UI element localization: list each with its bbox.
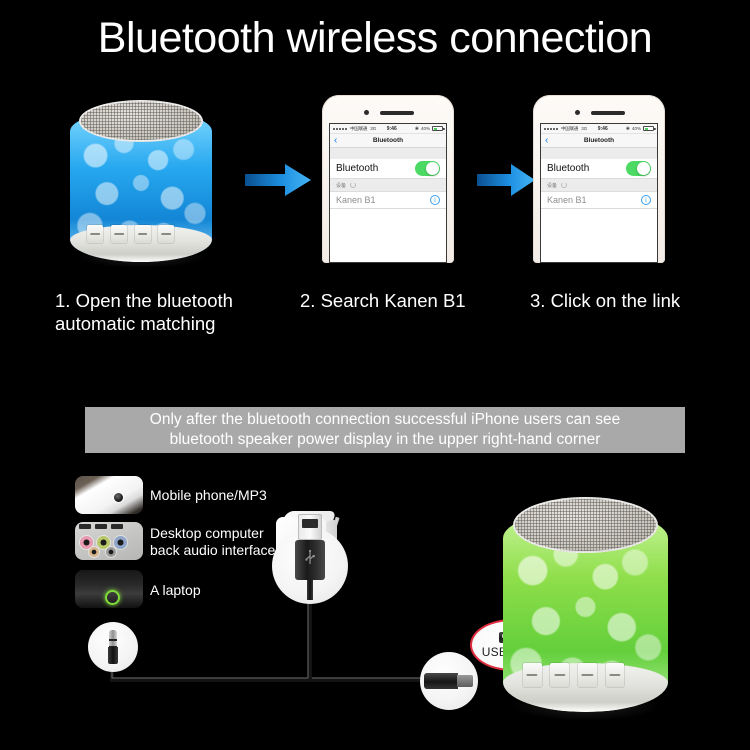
speaker-button-mode (87, 225, 103, 242)
bluetooth-toggle-row[interactable]: Bluetooth (541, 159, 657, 179)
step-1-line-1: 1. Open the bluetooth (55, 289, 305, 312)
battery-percent-label: 40% (632, 126, 641, 131)
source-3-line-1: A laptop (150, 582, 201, 599)
bluetooth-toggle-switch[interactable] (415, 161, 440, 176)
speaker-grille (79, 100, 204, 142)
clock-label: 9:46 (387, 126, 397, 132)
info-icon[interactable]: i (641, 195, 651, 205)
iphone-mockup-step2: 中国联通 3G 9:46 ❀ 40% ‹ Bluetooth Bluetooth (322, 95, 454, 263)
speaker-button-row (523, 639, 648, 704)
bluetooth-toggle-row[interactable]: Bluetooth (330, 159, 446, 179)
right-arrow-icon-1 (245, 163, 311, 197)
bluetooth-icon: ❀ (626, 126, 630, 132)
devices-section-header: 设备 (541, 179, 657, 192)
back-chevron-icon[interactable]: ‹ (545, 136, 548, 146)
speaker-grille (513, 497, 658, 553)
ios-status-bar: 中国联通 3G 9:46 ❀ 40% (541, 124, 657, 134)
speaker-button-prev (550, 663, 569, 686)
step-caption-3: 3. Click on the link (530, 289, 740, 312)
right-arrow-icon-2 (477, 163, 535, 197)
source-label-1: Mobile phone/MP3 (150, 487, 267, 504)
banner-line-1: Only after the bluetooth connection succ… (150, 410, 620, 430)
carrier-label: 中国联通 (561, 126, 578, 132)
source-2-line-2: back audio interface (150, 542, 275, 559)
device-row-kanen-b1[interactable]: Kanen B1 i (330, 192, 446, 209)
usb-a-connector (295, 514, 325, 600)
laptop-thumbnail (75, 570, 143, 608)
phone-screen: 中国联通 3G 9:46 ❀ 40% ‹ Bluetooth Bluetooth (329, 123, 447, 263)
page-title: Bluetooth wireless connection (0, 14, 750, 63)
source-2-line-1: Desktop computer (150, 525, 275, 542)
source-label-2: Desktop computer back audio interface (150, 525, 275, 559)
bluetooth-speaker-blue (70, 100, 212, 262)
step-caption-2: 2. Search Kanen B1 (300, 289, 520, 312)
bluetooth-icon: ❀ (415, 126, 419, 132)
speaker-button-play (578, 663, 597, 686)
audio-interface-thumbnail (75, 522, 143, 560)
micro-usb-connector (424, 671, 476, 691)
step-caption-1: 1. Open the bluetooth automatic matching (55, 289, 305, 335)
info-banner: Only after the bluetooth connection succ… (85, 407, 685, 453)
ios-status-bar: 中国联通 3G 9:46 ❀ 40% (330, 124, 446, 134)
clock-label: 9:46 (598, 126, 608, 132)
signal-strength-icon (333, 128, 347, 130)
phone-screen: 中国联通 3G 9:46 ❀ 40% ‹ Bluetooth Bluetooth (540, 123, 658, 263)
speaker-button-row (87, 207, 195, 256)
bluetooth-row-label: Bluetooth (336, 163, 378, 174)
section-gap (541, 148, 657, 159)
bluetooth-row-label: Bluetooth (547, 163, 589, 174)
speaker-button-mode (523, 663, 542, 686)
loading-spinner-icon (350, 182, 356, 188)
iphone-mockup-step3: 中国联通 3G 9:46 ❀ 40% ‹ Bluetooth Bluetooth (533, 95, 665, 263)
device-name-label: Kanen B1 (336, 195, 376, 205)
devices-section-header: 设备 (330, 179, 446, 192)
ios-nav-bar: ‹ Bluetooth (330, 134, 446, 148)
speaker-button-prev (111, 225, 127, 242)
step-1-line-2: automatic matching (55, 312, 305, 335)
banner-line-2: bluetooth speaker power display in the u… (170, 430, 601, 450)
speaker-button-next (606, 663, 625, 686)
device-name-label: Kanen B1 (547, 195, 587, 205)
infographic-canvas: Bluetooth wireless connection (0, 0, 750, 750)
source-1-line-1: Mobile phone/MP3 (150, 487, 267, 504)
carrier-label: 中国联通 (350, 126, 367, 132)
nav-title: Bluetooth (584, 137, 614, 144)
battery-percent-label: 40% (421, 126, 430, 131)
signal-strength-icon (544, 128, 558, 130)
back-chevron-icon[interactable]: ‹ (334, 136, 337, 146)
audio-jacks (75, 522, 143, 560)
source-label-3: A laptop (150, 582, 201, 599)
jack-orange (89, 547, 99, 557)
usb-connector-node (272, 528, 348, 604)
bluetooth-speaker-green (503, 497, 668, 712)
battery-icon (643, 126, 654, 131)
device-row-kanen-b1[interactable]: Kanen B1 i (541, 192, 657, 209)
speaker-button-next (158, 225, 174, 242)
aux-connector-node (88, 622, 138, 672)
bluetooth-toggle-switch[interactable] (626, 161, 651, 176)
aux-3.5mm-jack (108, 630, 118, 664)
jack-blue (114, 536, 127, 549)
loading-spinner-icon (561, 182, 567, 188)
devices-section-label: 设备 (336, 182, 346, 189)
earpiece-speaker (380, 111, 414, 115)
step-3-line-1: 3. Click on the link (530, 289, 740, 312)
speaker-button-play (135, 225, 151, 242)
network-type-label: 3G (370, 126, 376, 131)
section-gap (330, 148, 446, 159)
nav-title: Bluetooth (373, 137, 403, 144)
step-2-line-1: 2. Search Kanen B1 (300, 289, 520, 312)
info-icon[interactable]: i (430, 195, 440, 205)
devices-section-label: 设备 (547, 182, 557, 189)
network-type-label: 3G (581, 126, 587, 131)
phone-thumbnail (75, 476, 143, 514)
micro-usb-connector-node (420, 652, 478, 710)
jack-grey (106, 547, 116, 557)
ios-nav-bar: ‹ Bluetooth (541, 134, 657, 148)
earpiece-speaker (591, 111, 625, 115)
battery-icon (432, 126, 443, 131)
